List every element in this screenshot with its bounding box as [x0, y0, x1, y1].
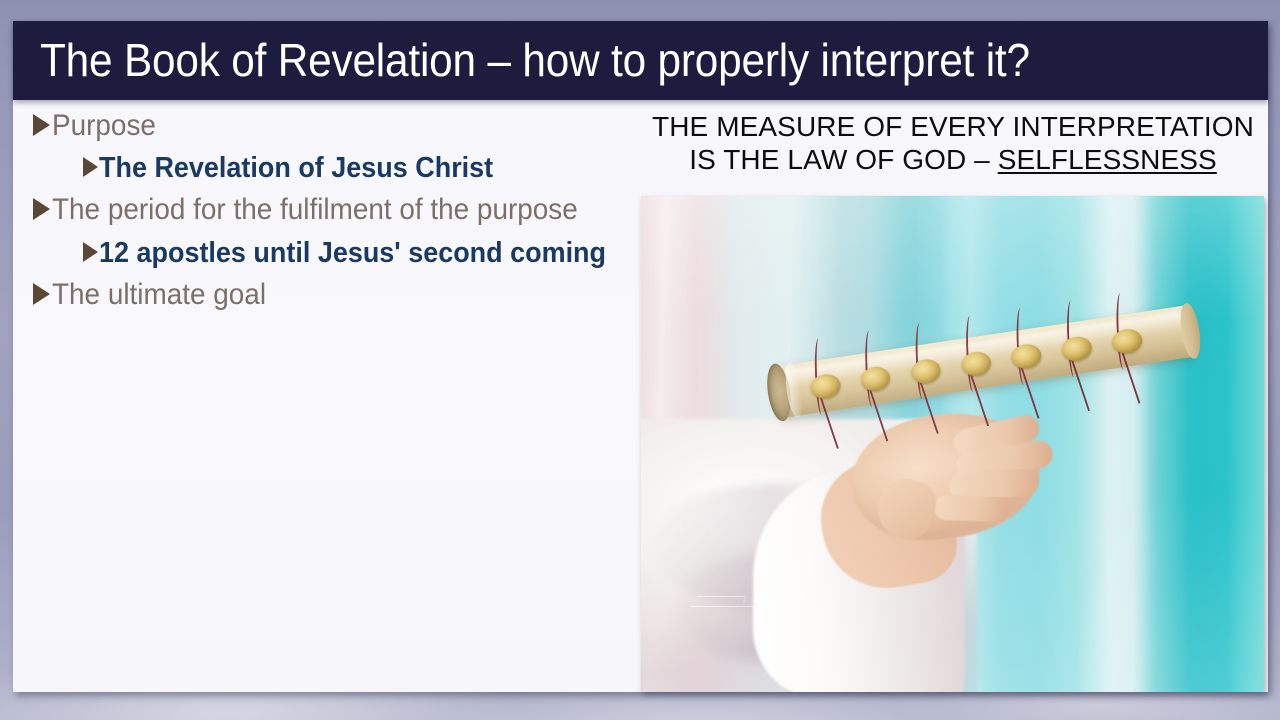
illustration-canvas [641, 196, 1264, 692]
bullet-label: Purpose [52, 105, 156, 146]
bullet-triangle-icon [83, 242, 98, 262]
bullet-item-purpose: Purpose [33, 105, 633, 146]
slide-title-band: The Book of Revelation – how to properly… [13, 21, 1268, 100]
bullet-triangle-icon [33, 198, 50, 220]
bullet-item-revelation-of-jesus-christ: The Revelation of Jesus Christ [83, 148, 633, 188]
artist-signature [691, 595, 760, 607]
caption-line-1: THE MEASURE OF EVERY INTERPRETATION [640, 110, 1266, 143]
signature-mark [695, 596, 746, 604]
bullet-label: 12 apostles until Jesus' second coming [99, 233, 606, 273]
bullet-label: The ultimate goal [52, 274, 266, 315]
bullet-triangle-icon [33, 283, 50, 305]
slide-title: The Book of Revelation – how to properly… [40, 32, 1030, 86]
presentation-slide: The Book of Revelation – how to properly… [0, 0, 1280, 720]
caption-selflessness-emphasis: SELFLESSNESS [998, 144, 1217, 175]
caption-line-2-prefix: IS THE LAW OF GOD – [689, 144, 998, 175]
scroll-illustration-image [641, 196, 1264, 692]
bullet-item-12-apostles: 12 apostles until Jesus' second coming [83, 233, 633, 273]
finger [933, 495, 1009, 522]
bullet-item-period-of-fulfilment: The period for the fulfilment of the pur… [33, 189, 633, 230]
caption-line-2: IS THE LAW OF GOD – SELFLESSNESS [640, 143, 1266, 176]
bullet-triangle-icon [33, 114, 50, 136]
signature-underline [691, 606, 760, 608]
bullet-item-ultimate-goal: The ultimate goal [33, 274, 633, 315]
picture-caption-heading: THE MEASURE OF EVERY INTERPRETATION IS T… [640, 110, 1266, 176]
bullet-label: The Revelation of Jesus Christ [99, 148, 493, 188]
bullet-list: Purpose The Revelation of Jesus Christ T… [33, 104, 633, 315]
bullet-triangle-icon [83, 157, 98, 177]
bullet-label: The period for the fulfilment of the pur… [52, 189, 578, 230]
